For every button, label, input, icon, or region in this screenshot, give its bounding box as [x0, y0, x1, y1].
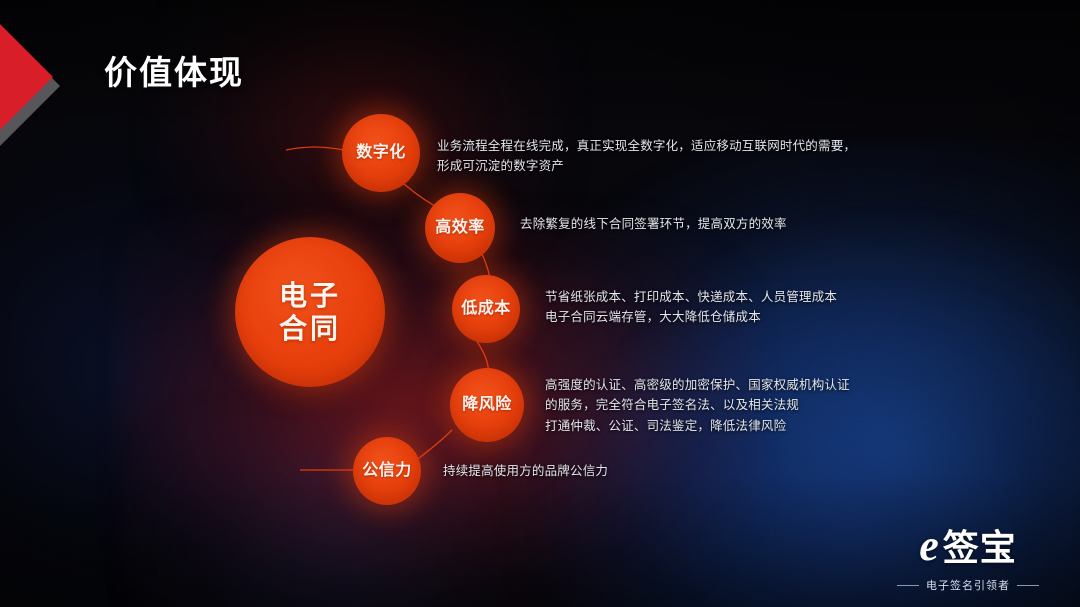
node-risk-reduction[interactable]: 降风险: [450, 368, 524, 442]
hub-label-line2: 合同: [279, 312, 341, 345]
node-description-risk-reduction: 高强度的认证、高密级的加密保护、国家权威机构认证 的服务，完全符合电子签名法、以…: [545, 375, 965, 436]
connector-4-5: [414, 430, 452, 462]
node-label-credibility: 公信力: [362, 462, 412, 481]
tagline-rule-right-icon: [1017, 585, 1039, 586]
node-digitalization[interactable]: 数字化: [342, 114, 420, 192]
hub-node-electronic-contract[interactable]: 电子 合同: [235, 237, 385, 387]
node-low-cost[interactable]: 低成本: [452, 275, 520, 343]
logo-e-icon: e: [919, 525, 939, 567]
node-credibility[interactable]: 公信力: [353, 437, 421, 505]
node-description-digitalization: 业务流程全程在线完成，真正实现全数字化，适应移动互联网时代的需要， 形成可沉淀的…: [437, 136, 907, 177]
node-high-efficiency[interactable]: 高效率: [425, 193, 495, 263]
node-label-high-efficiency: 高效率: [435, 219, 485, 238]
brand-logo: e 签宝 电子签名引领者: [878, 519, 1058, 593]
node-label-digitalization: 数字化: [356, 144, 406, 163]
logo-brand-name: 签宝: [943, 519, 1017, 571]
connector-stub-top: [286, 147, 344, 150]
node-description-credibility: 持续提高使用方的品牌公信力: [443, 461, 843, 481]
value-diagram: 电子 合同 数字化 业务流程全程在线完成，真正实现全数字化，适应移动互联网时代的…: [0, 0, 1080, 607]
node-label-risk-reduction: 降风险: [462, 396, 512, 415]
logo-tagline: 电子签名引领者: [926, 577, 1010, 593]
node-description-high-efficiency: 去除繁复的线下合同签署环节，提高双方的效率: [520, 214, 940, 234]
tagline-rule-left-icon: [897, 585, 919, 586]
logo-mark: e 签宝: [878, 519, 1058, 571]
node-label-low-cost: 低成本: [461, 300, 511, 319]
node-description-low-cost: 节省纸张成本、打印成本、快递成本、人员管理成本 电子合同云端存管，大大降低仓储成…: [545, 287, 965, 328]
presentation-slide: 价值体现 电子 合同: [0, 0, 1080, 607]
hub-label-line1: 电子: [279, 279, 341, 312]
logo-tagline-row: 电子签名引领者: [878, 577, 1058, 593]
